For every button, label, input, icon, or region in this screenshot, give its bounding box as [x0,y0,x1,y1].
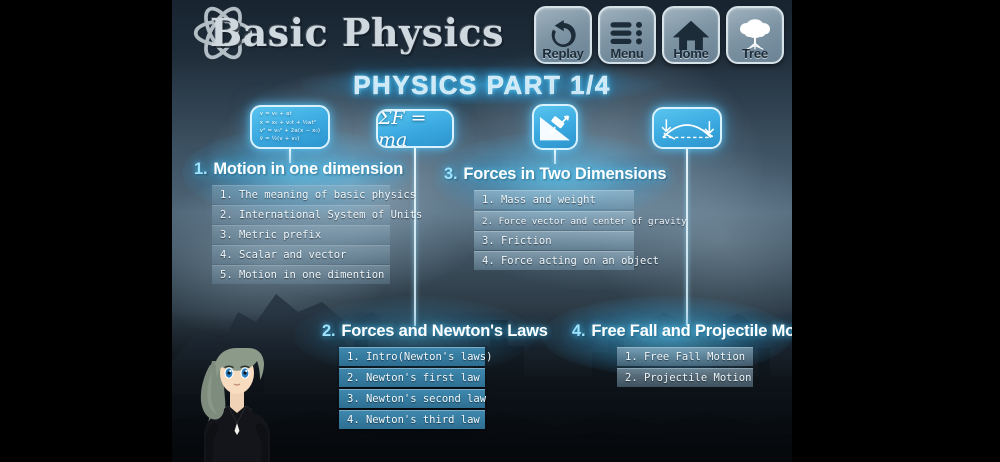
section-4-title: Free Fall and Projectile Motion [591,322,792,340]
home-button[interactable]: Home [662,6,720,64]
tree-button[interactable]: Tree [726,6,784,64]
section-3-item-1[interactable]: 1. Mass and weight [474,190,634,209]
app-header: Basic Physics Replay [172,0,792,72]
section-4-item-1[interactable]: 1. Free Fall Motion [617,347,753,366]
newtons-second-law-formula-icon: ΣF = ma [378,109,452,148]
section-3-item-2[interactable]: 2. Force vector and center of gravity [474,211,634,230]
section-4-connector [686,149,688,326]
letterbox-right [792,0,1000,462]
projectile-trajectory-icon [656,110,718,146]
section-1-heading: 1.Motion in one dimension [194,160,403,179]
section-3-connector [554,150,556,164]
menu-button-label: Menu [600,46,654,61]
section-2-item-3[interactable]: 3. Newton's second law [339,389,485,408]
section-2-item-1[interactable]: 1. Intro(Newton's laws) [339,347,485,366]
section-4-heading: 4.Free Fall and Projectile Motion [572,322,792,341]
section-2-item-2[interactable]: 2. Newton's first law [339,368,485,387]
home-button-label: Home [664,46,718,61]
letterbox-left [0,0,172,462]
page-title: Basic Physics [210,10,504,55]
section-4-number: 4. [572,322,585,340]
section-1-item-5[interactable]: 5. Motion in one dimention [212,265,390,284]
section-2-item-4[interactable]: 4. Newton's third law [339,410,485,429]
kinematics-equations-icon: v = v₀ + at x = x₀ + v₀t + ½at² v² = v₀²… [260,110,320,144]
physics-teacher-avatar [176,327,294,462]
section-3-title: Forces in Two Dimensions [463,165,666,183]
replay-button[interactable]: Replay [534,6,592,64]
section-2-heading: 2.Forces and Newton's Laws [322,322,548,341]
section-4-icon-card[interactable] [652,107,722,149]
section-1-title: Motion in one dimension [213,160,403,178]
section-1-item-3[interactable]: 3. Metric prefix [212,225,390,244]
section-3-item-3[interactable]: 3. Friction [474,231,634,250]
tree-button-label: Tree [728,46,782,61]
replay-button-label: Replay [536,46,590,61]
section-2-number: 2. [322,322,335,340]
section-2-connector [414,148,416,326]
section-1-item-1[interactable]: 1. The meaning of basic physics [212,185,390,204]
nav-button-group: Replay Menu [534,6,784,64]
screen: Basic Physics Replay [0,0,1000,462]
part-title: PHYSICS PART 1/4 [172,70,792,101]
section-3-number: 3. [444,165,457,183]
game-viewport: Basic Physics Replay [172,0,792,462]
section-4-item-2[interactable]: 2. Projectile Motion [617,368,753,387]
section-2-title: Forces and Newton's Laws [341,322,547,340]
section-1-item-4[interactable]: 4. Scalar and vector [212,245,390,264]
section-3-heading: 3.Forces in Two Dimensions [444,165,666,184]
inclined-plane-forces-icon [535,107,575,147]
section-1-item-2[interactable]: 2. International System of Units [212,205,390,224]
section-1-number: 1. [194,160,207,178]
menu-button[interactable]: Menu [598,6,656,64]
section-3-item-4[interactable]: 4. Force acting on an object [474,251,634,270]
section-3-icon-card[interactable] [532,104,578,150]
section-1-icon-card[interactable]: v = v₀ + at x = x₀ + v₀t + ½at² v² = v₀²… [250,105,330,149]
section-2-icon-card[interactable]: ΣF = ma [376,109,454,148]
